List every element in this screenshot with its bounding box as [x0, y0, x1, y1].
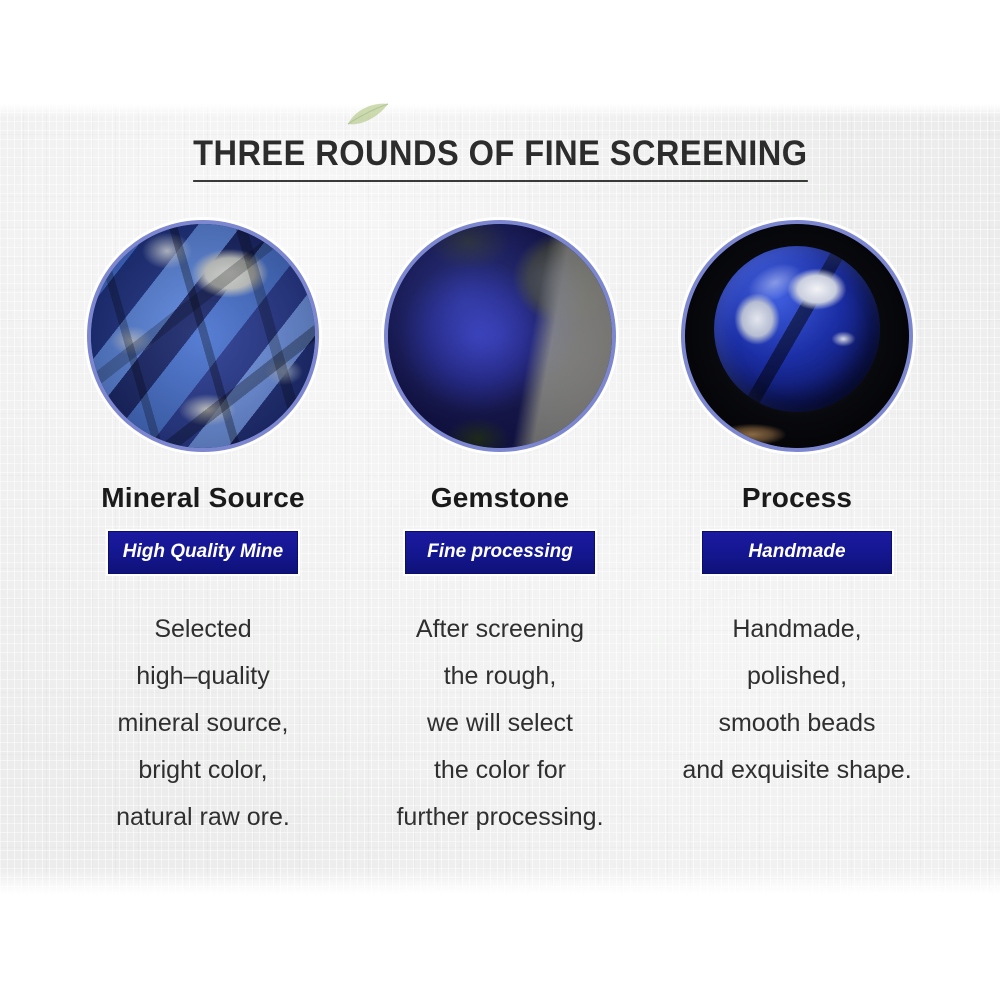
step-column-mineral-source: Mineral Source High Quality Mine Selecte… — [60, 220, 346, 841]
page-title-wrapper: THREE ROUNDS OF FINE SCREENING — [0, 134, 1000, 182]
body-line: bright color, — [116, 747, 290, 794]
body-line: we will select — [396, 700, 603, 747]
step-heading-2: Gemstone — [431, 482, 570, 514]
circle-frame-1 — [87, 220, 319, 452]
step-column-gemstone: Gemstone Fine processing After screening… — [357, 220, 643, 841]
step-badge-3: Handmade — [702, 531, 892, 574]
rough-lapis-ore-photo — [91, 224, 315, 448]
step-column-process: Process Handmade Handmade, polished, smo… — [654, 220, 940, 841]
steps-row: Mineral Source High Quality Mine Selecte… — [60, 220, 940, 841]
polished-lapis-bead-photo — [685, 224, 909, 448]
step-body-2: After screening the rough, we will selec… — [396, 606, 603, 841]
step-body-1: Selected high–quality mineral source, br… — [116, 606, 290, 841]
body-line: polished, — [682, 653, 911, 700]
step-badge-2: Fine processing — [405, 531, 595, 574]
body-line: After screening — [396, 606, 603, 653]
body-line: mineral source, — [116, 700, 290, 747]
step-badge-1: High Quality Mine — [108, 531, 298, 574]
body-line: further processing. — [396, 794, 603, 841]
body-line: the rough, — [396, 653, 603, 700]
blue-rough-gemstone-photo — [388, 224, 612, 448]
body-line: the color for — [396, 747, 603, 794]
body-line: Handmade, — [682, 606, 911, 653]
page-title: THREE ROUNDS OF FINE SCREENING — [193, 134, 807, 182]
body-line: natural raw ore. — [116, 794, 290, 841]
infographic-page: THREE ROUNDS OF FINE SCREENING Mineral S… — [0, 0, 1000, 1000]
body-line: Selected — [116, 606, 290, 653]
body-line: smooth beads — [682, 700, 911, 747]
circle-frame-2 — [384, 220, 616, 452]
leaf-icon — [346, 100, 392, 128]
body-line: and exquisite shape. — [682, 747, 911, 794]
step-heading-3: Process — [742, 482, 852, 514]
body-line: high–quality — [116, 653, 290, 700]
step-heading-1: Mineral Source — [101, 482, 305, 514]
step-body-3: Handmade, polished, smooth beads and exq… — [682, 606, 911, 794]
circle-frame-3 — [681, 220, 913, 452]
lapis-bead — [714, 246, 880, 412]
